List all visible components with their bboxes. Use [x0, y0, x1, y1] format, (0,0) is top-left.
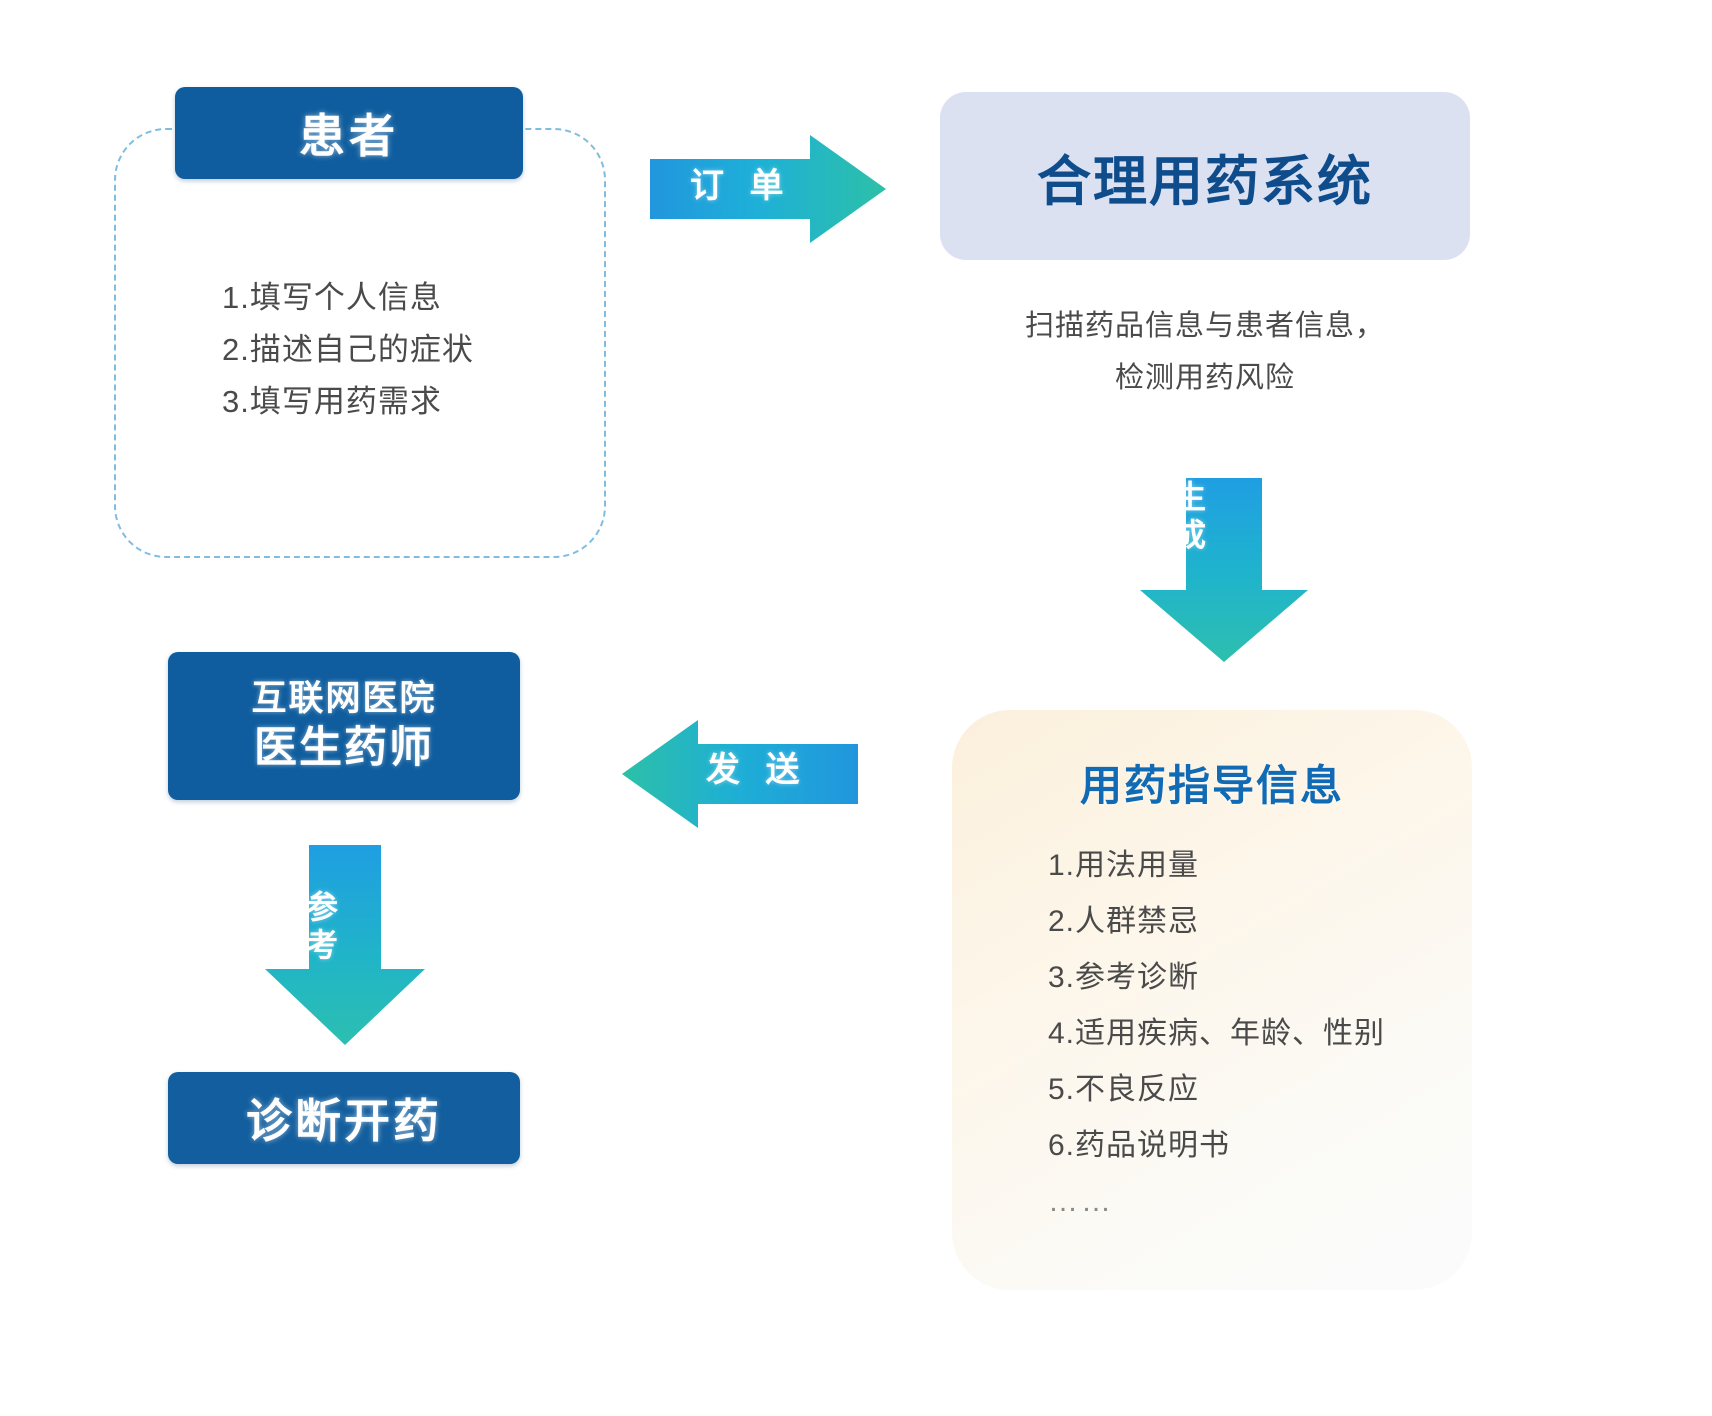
list-item-ellipsis: ……	[1048, 1174, 1468, 1230]
guidance-title: 用药指导信息	[952, 752, 1472, 813]
refer-arrow-down-icon	[265, 845, 425, 1045]
patient-badge-label: 患者	[299, 100, 399, 166]
send-arrow-left-icon	[622, 720, 858, 828]
system-subtitle-line-2: 检测用药风险	[940, 352, 1470, 404]
doctor-box-line-1: 互联网医院	[251, 677, 436, 721]
list-item: 4.适用疾病、年龄、性别	[1048, 1006, 1468, 1062]
patient-step-list: 1.填写个人信息 2.描述自己的症状 3.填写用药需求	[222, 272, 562, 428]
diagnose-prescribe-label: 诊断开药	[246, 1085, 442, 1151]
system-subtitle: 扫描药品信息与患者信息， 检测用药风险	[940, 300, 1470, 404]
system-subtitle-line-1: 扫描药品信息与患者信息，	[940, 300, 1470, 352]
list-item: 6.药品说明书	[1048, 1118, 1468, 1174]
internet-hospital-doctor-box[interactable]: 互联网医院 医生药师	[168, 652, 520, 800]
list-item: 1.用法用量	[1048, 838, 1468, 894]
flowchart-canvas: 患者 1.填写个人信息 2.描述自己的症状 3.填写用药需求 订 单 合理用药系…	[0, 0, 1712, 1416]
patient-badge[interactable]: 患者	[175, 87, 523, 179]
list-item: 3.参考诊断	[1048, 950, 1468, 1006]
order-arrow-right-icon	[650, 135, 886, 243]
list-item: 1.填写个人信息	[222, 272, 562, 324]
doctor-box-line-2: 医生药师	[254, 721, 434, 775]
list-item: 2.人群禁忌	[1048, 894, 1468, 950]
guidance-item-list: 1.用法用量 2.人群禁忌 3.参考诊断 4.适用疾病、年龄、性别 5.不良反应…	[1048, 838, 1468, 1230]
diagnose-prescribe-box[interactable]: 诊断开药	[168, 1072, 520, 1164]
list-item: 3.填写用药需求	[222, 376, 562, 428]
medication-guidance-box[interactable]: 用药指导信息 1.用法用量 2.人群禁忌 3.参考诊断 4.适用疾病、年龄、性别…	[952, 710, 1472, 1290]
system-title: 合理用药系统	[1037, 137, 1373, 216]
rational-medication-system-box[interactable]: 合理用药系统	[940, 92, 1470, 260]
generate-arrow-down-icon	[1140, 478, 1308, 662]
list-item: 2.描述自己的症状	[222, 324, 562, 376]
list-item: 5.不良反应	[1048, 1062, 1468, 1118]
